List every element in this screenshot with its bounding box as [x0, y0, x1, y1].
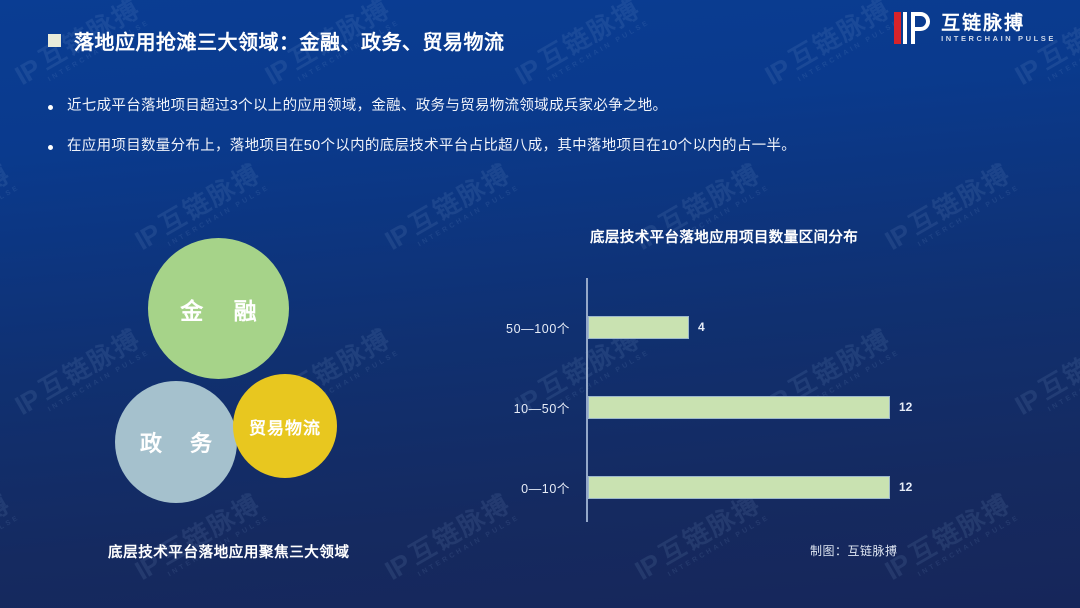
bar-segment [588, 316, 689, 339]
bullet-item: 近七成平台落地项目超过3个以上的应用领域，金融、政务与贸易物流领域成兵家必争之地… [48, 96, 1038, 117]
bullet-list: 近七成平台落地项目超过3个以上的应用领域，金融、政务与贸易物流领域成兵家必争之地… [48, 96, 1038, 176]
bullet-item-text: 近七成平台落地项目超过3个以上的应用领域，金融、政务与贸易物流领域成兵家必争之地… [67, 96, 667, 117]
bar-value-label: 4 [698, 320, 705, 334]
watermark-mark: IP互链脉搏INTERCHAIN PULSE [0, 159, 22, 262]
bar-value-label: 12 [899, 400, 912, 414]
ip-monogram-icon [892, 10, 932, 46]
chart-source-note: 制图：互链脉搏 [810, 542, 898, 559]
bubble-trade-logistics: 贸易物流 [233, 374, 337, 478]
bubble-chart: 金 融 政 务 贸易物流 [70, 226, 450, 526]
bar-segment [588, 396, 890, 419]
bar-segment [588, 476, 890, 499]
page-title-text: 落地应用抢滩三大领域：金融、政务、贸易物流 [74, 26, 505, 55]
brand-name-cn: 互链脉搏 [941, 14, 1056, 33]
slide-root: IP互链脉搏INTERCHAIN PULSEIP互链脉搏INTERCHAIN P… [0, 0, 1080, 608]
square-bullet-icon [48, 34, 61, 47]
bar-value-label: 12 [899, 480, 912, 494]
bar-chart-row: 0—10个12 [470, 472, 1030, 502]
bullet-item: 在应用项目数量分布上，落地项目在50个以内的底层技术平台占比超八成，其中落地项目… [48, 136, 1038, 157]
brand-name-en: INTERCHAIN PULSE [941, 35, 1056, 43]
bar-category-label: 10—50个 [440, 398, 570, 417]
bar-category-label: 0—10个 [440, 478, 570, 497]
dot-bullet-icon [48, 145, 53, 150]
bar-chart-row: 50—100个4 [470, 312, 1030, 342]
bar-chart-plot: 50—100个410—50个120—10个12 [470, 274, 1030, 522]
bar-chart: 底层技术平台落地应用项目数量区间分布 50—100个410—50个120—10个… [470, 226, 1030, 546]
bar-chart-title: 底层技术平台落地应用项目数量区间分布 [590, 226, 858, 247]
page-title: 落地应用抢滩三大领域：金融、政务、贸易物流 [48, 26, 505, 55]
bubble-chart-caption: 底层技术平台落地应用聚焦三大领域 [108, 541, 350, 562]
bar-chart-row: 10—50个12 [470, 392, 1030, 422]
brand-logo-text: 互链脉搏 INTERCHAIN PULSE [941, 14, 1056, 43]
bullet-item-text: 在应用项目数量分布上，落地项目在50个以内的底层技术平台占比超八成，其中落地项目… [67, 136, 796, 157]
brand-logo: 互链脉搏 INTERCHAIN PULSE [892, 10, 1056, 46]
bubble-government: 政 务 [115, 381, 237, 503]
bubble-finance: 金 融 [148, 238, 289, 379]
dot-bullet-icon [48, 105, 53, 110]
bar-category-label: 50—100个 [440, 318, 570, 337]
watermark-mark: IP互链脉搏INTERCHAIN PULSE [0, 489, 22, 592]
